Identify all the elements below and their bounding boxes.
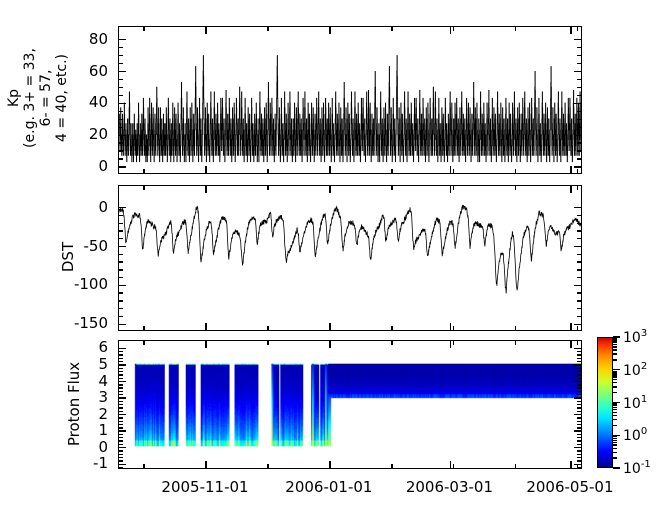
x-tick-major: [570, 186, 571, 193]
y-tick-minor: [119, 460, 123, 461]
y-tick-minor: [119, 374, 123, 375]
colorbar-tick-minor: [613, 438, 617, 439]
y-tick-major: [119, 39, 126, 40]
y-tick-major: [574, 207, 581, 208]
x-tick-minor: [577, 464, 578, 468]
x-tick-major: [205, 323, 206, 330]
kp-panel: [118, 26, 582, 174]
x-tick-minor: [577, 341, 578, 345]
y-tick-minor: [577, 421, 581, 422]
x-tick-minor: [453, 326, 454, 330]
y-tick-minor: [577, 87, 581, 88]
dst-plot-area: [119, 186, 581, 330]
y-tick-minor: [119, 308, 123, 309]
colorbar-tick-minor: [613, 379, 617, 380]
y-tick-minor: [577, 254, 581, 255]
x-tick-major: [450, 166, 451, 173]
y-tick-minor: [577, 300, 581, 301]
y-tick-label: -150: [48, 314, 108, 332]
y-tick-minor: [577, 444, 581, 445]
y-tick-minor: [577, 354, 581, 355]
y-tick-minor: [119, 434, 123, 435]
x-tick-minor: [267, 326, 268, 330]
y-tick-major: [119, 71, 126, 72]
y-tick-major: [574, 414, 581, 415]
x-tick-major: [329, 186, 330, 193]
y-tick-minor: [119, 55, 123, 56]
colorbar-tick-major: [613, 435, 620, 436]
y-tick-major: [574, 285, 581, 286]
colorbar-tick-minor: [613, 382, 617, 383]
kp-trace: [119, 27, 581, 173]
x-tick-major: [329, 461, 330, 468]
y-tick-major: [574, 71, 581, 72]
proton-flux-plot-area: [119, 341, 581, 468]
y-tick-major: [574, 430, 581, 431]
y-tick-minor: [577, 394, 581, 395]
y-tick-major: [574, 246, 581, 247]
y-tick-minor: [577, 411, 581, 412]
colorbar-tick-label: 10-1: [623, 459, 651, 477]
y-tick-minor: [119, 407, 123, 408]
colorbar-gradient: [597, 337, 613, 468]
x-tick-major: [205, 27, 206, 34]
y-tick-minor: [577, 277, 581, 278]
y-tick-minor: [119, 127, 123, 128]
x-tick-minor: [143, 464, 144, 468]
x-tick-minor: [577, 186, 578, 190]
y-tick-minor: [577, 292, 581, 293]
y-tick-label: 3: [48, 388, 108, 406]
y-tick-minor: [577, 47, 581, 48]
x-tick-label: 2006-01-01: [285, 478, 372, 496]
y-tick-minor: [577, 158, 581, 159]
y-tick-minor: [119, 384, 123, 385]
x-tick-label: 2006-03-01: [406, 478, 493, 496]
y-tick-minor: [577, 223, 581, 224]
colorbar-tick-minor: [613, 359, 617, 360]
y-tick-major: [119, 348, 126, 349]
y-tick-minor: [119, 411, 123, 412]
y-tick-minor: [577, 378, 581, 379]
y-tick-minor: [577, 387, 581, 388]
y-tick-label: 5: [48, 355, 108, 373]
y-tick-major: [119, 285, 126, 286]
x-tick-major: [329, 27, 330, 34]
y-tick-minor: [577, 79, 581, 80]
colorbar-tick-minor: [613, 440, 617, 441]
x-tick-minor: [515, 464, 516, 468]
y-tick-major: [119, 430, 126, 431]
y-tick-minor: [577, 119, 581, 120]
colorbar-tick-major: [613, 402, 620, 403]
y-tick-minor: [119, 79, 123, 80]
y-tick-major: [119, 447, 126, 448]
x-tick-minor: [515, 169, 516, 173]
y-tick-major: [574, 166, 581, 167]
x-tick-minor: [577, 169, 578, 173]
y-tick-label: 2: [48, 405, 108, 423]
x-tick-major: [570, 166, 571, 173]
colorbar-tick-minor: [613, 412, 617, 413]
colorbar-tick-label: 100: [623, 426, 647, 444]
y-tick-minor: [119, 358, 123, 359]
y-tick-minor: [119, 47, 123, 48]
y-tick-label: 6: [48, 338, 108, 356]
colorbar-tick-minor: [613, 415, 617, 416]
colorbar-tick-minor: [613, 442, 617, 443]
y-tick-minor: [577, 361, 581, 362]
y-tick-minor: [577, 111, 581, 112]
y-tick-minor: [577, 460, 581, 461]
figure-canvas: Kp(e.g. 3+ = 33,6- = 57,4 = 40, etc.) DS…: [0, 0, 665, 523]
x-tick-minor: [391, 27, 392, 31]
x-tick-major: [205, 186, 206, 193]
y-tick-minor: [119, 437, 123, 438]
y-tick-minor: [119, 387, 123, 388]
x-tick-minor: [453, 464, 454, 468]
y-tick-minor: [577, 150, 581, 151]
y-tick-minor: [577, 434, 581, 435]
y-tick-major: [119, 324, 126, 325]
colorbar-tick-minor: [613, 448, 617, 449]
colorbar-tick-minor: [613, 339, 617, 340]
y-tick-minor: [577, 374, 581, 375]
y-tick-minor: [119, 394, 123, 395]
colorbar-tick-minor: [613, 374, 617, 375]
x-tick-major: [570, 323, 571, 330]
proton-flux-panel: [118, 340, 582, 469]
y-tick-label: 60: [48, 62, 108, 80]
x-tick-major: [205, 341, 206, 348]
y-tick-minor: [119, 378, 123, 379]
y-tick-minor: [577, 215, 581, 216]
x-tick-minor: [391, 169, 392, 173]
x-tick-minor: [267, 464, 268, 468]
colorbar: [597, 337, 613, 468]
y-tick-minor: [577, 401, 581, 402]
x-tick-minor: [515, 27, 516, 31]
y-tick-minor: [119, 316, 123, 317]
colorbar-tick-minor: [613, 338, 617, 339]
y-tick-minor: [119, 368, 123, 369]
x-tick-minor: [143, 27, 144, 31]
x-tick-minor: [267, 169, 268, 173]
y-tick-minor: [119, 87, 123, 88]
y-tick-major: [119, 397, 126, 398]
x-tick-minor: [267, 27, 268, 31]
x-tick-major: [329, 166, 330, 173]
y-tick-minor: [119, 215, 123, 216]
colorbar-tick-major: [613, 336, 620, 337]
y-tick-major: [119, 207, 126, 208]
y-tick-major: [574, 324, 581, 325]
y-tick-minor: [577, 454, 581, 455]
y-tick-minor: [577, 95, 581, 96]
colorbar-tick-minor: [613, 419, 617, 420]
y-tick-label: 40: [48, 93, 108, 111]
colorbar-tick-minor: [613, 372, 617, 373]
y-tick-minor: [119, 427, 123, 428]
y-tick-minor: [577, 450, 581, 451]
y-tick-minor: [577, 261, 581, 262]
x-tick-major: [329, 323, 330, 330]
y-tick-major: [574, 135, 581, 136]
y-tick-minor: [577, 142, 581, 143]
y-tick-minor: [577, 437, 581, 438]
colorbar-tick-minor: [613, 386, 617, 387]
y-tick-minor: [577, 457, 581, 458]
y-tick-major: [119, 166, 126, 167]
x-tick-major: [450, 341, 451, 348]
x-tick-major: [450, 461, 451, 468]
x-tick-major: [570, 461, 571, 468]
kp-axis-title-line: (e.g. 3+ = 33,: [22, 4, 38, 192]
colorbar-tick-minor: [613, 344, 617, 345]
colorbar-tick-minor: [613, 457, 617, 458]
y-tick-minor: [577, 127, 581, 128]
colorbar-tick-minor: [613, 452, 617, 453]
y-tick-minor: [577, 424, 581, 425]
y-tick-minor: [577, 269, 581, 270]
colorbar-tick-minor: [613, 444, 617, 445]
y-tick-minor: [577, 368, 581, 369]
y-tick-minor: [577, 440, 581, 441]
y-tick-minor: [577, 230, 581, 231]
y-tick-label: 80: [48, 30, 108, 48]
x-tick-major: [205, 461, 206, 468]
y-tick-minor: [119, 417, 123, 418]
y-tick-major: [119, 135, 126, 136]
y-tick-minor: [119, 361, 123, 362]
y-tick-minor: [577, 391, 581, 392]
y-tick-minor: [119, 444, 123, 445]
y-tick-label: -100: [48, 275, 108, 293]
x-tick-major: [570, 27, 571, 34]
y-tick-major: [119, 364, 126, 365]
colorbar-tick-minor: [613, 407, 617, 408]
y-tick-major: [574, 348, 581, 349]
colorbar-tick-minor: [613, 376, 617, 377]
y-tick-minor: [119, 158, 123, 159]
x-tick-minor: [391, 186, 392, 190]
x-tick-minor: [515, 186, 516, 190]
y-tick-minor: [577, 238, 581, 239]
y-tick-major: [119, 381, 126, 382]
y-tick-minor: [577, 427, 581, 428]
y-tick-major: [119, 246, 126, 247]
y-tick-major: [574, 39, 581, 40]
y-tick-minor: [119, 421, 123, 422]
colorbar-tick-label: 101: [623, 394, 647, 412]
x-tick-minor: [143, 169, 144, 173]
colorbar-tick-minor: [613, 353, 617, 354]
y-tick-minor: [119, 454, 123, 455]
y-tick-minor: [119, 142, 123, 143]
y-tick-label: 0: [48, 157, 108, 175]
x-tick-minor: [143, 186, 144, 190]
x-tick-label: 2005-11-01: [161, 478, 248, 496]
kp-axis-title-line: Kp: [6, 4, 22, 192]
y-tick-minor: [119, 457, 123, 458]
colorbar-tick-minor: [613, 346, 617, 347]
y-tick-minor: [119, 371, 123, 372]
y-tick-minor: [119, 300, 123, 301]
y-tick-major: [119, 103, 126, 104]
colorbar-tick-minor: [613, 409, 617, 410]
x-tick-minor: [577, 27, 578, 31]
y-tick-minor: [577, 384, 581, 385]
dst-trace: [119, 186, 581, 330]
y-tick-minor: [119, 277, 123, 278]
colorbar-tick-minor: [613, 403, 617, 404]
y-tick-label: -1: [48, 454, 108, 472]
y-tick-label: 0: [48, 438, 108, 456]
x-tick-minor: [391, 341, 392, 345]
x-tick-minor: [577, 326, 578, 330]
x-tick-major: [205, 166, 206, 173]
y-tick-label: 1: [48, 421, 108, 439]
x-tick-major: [450, 323, 451, 330]
y-tick-major: [574, 381, 581, 382]
y-tick-label: 0: [48, 198, 108, 216]
x-tick-major: [450, 186, 451, 193]
y-tick-major: [574, 103, 581, 104]
y-tick-label: 4: [48, 372, 108, 390]
y-tick-minor: [119, 354, 123, 355]
y-tick-minor: [119, 223, 123, 224]
x-tick-label: 2006-05-01: [526, 478, 613, 496]
y-tick-minor: [577, 351, 581, 352]
colorbar-tick-minor: [613, 341, 617, 342]
y-tick-minor: [577, 417, 581, 418]
x-tick-minor: [515, 341, 516, 345]
y-tick-minor: [119, 230, 123, 231]
y-tick-minor: [119, 111, 123, 112]
kp-plot-area: [119, 27, 581, 173]
y-tick-minor: [577, 407, 581, 408]
y-tick-major: [119, 464, 126, 465]
x-tick-minor: [391, 326, 392, 330]
y-tick-minor: [119, 254, 123, 255]
y-tick-major: [574, 397, 581, 398]
x-tick-minor: [267, 341, 268, 345]
y-tick-label: 20: [48, 125, 108, 143]
y-tick-minor: [577, 308, 581, 309]
x-tick-major: [570, 341, 571, 348]
y-tick-minor: [119, 63, 123, 64]
x-tick-minor: [143, 326, 144, 330]
colorbar-tick-minor: [613, 405, 617, 406]
colorbar-tick-major: [613, 369, 620, 370]
y-tick-minor: [119, 292, 123, 293]
x-tick-minor: [267, 186, 268, 190]
y-tick-minor: [577, 55, 581, 56]
y-tick-label: -50: [48, 237, 108, 255]
y-tick-minor: [577, 371, 581, 372]
x-tick-minor: [453, 169, 454, 173]
y-tick-minor: [119, 401, 123, 402]
y-tick-minor: [577, 404, 581, 405]
y-tick-minor: [119, 269, 123, 270]
x-tick-major: [329, 341, 330, 348]
y-tick-minor: [119, 467, 123, 468]
colorbar-tick-minor: [613, 436, 617, 437]
y-tick-major: [574, 364, 581, 365]
colorbar-tick-major: [613, 467, 620, 468]
y-tick-minor: [119, 424, 123, 425]
y-tick-major: [119, 414, 126, 415]
y-tick-minor: [119, 391, 123, 392]
dst-panel: [118, 185, 582, 331]
y-tick-minor: [119, 351, 123, 352]
dst-line: [119, 205, 581, 293]
x-tick-minor: [453, 341, 454, 345]
x-tick-minor: [453, 186, 454, 190]
x-tick-minor: [453, 27, 454, 31]
y-tick-minor: [119, 261, 123, 262]
x-tick-minor: [515, 326, 516, 330]
colorbar-tick-minor: [613, 425, 617, 426]
y-tick-minor: [119, 450, 123, 451]
x-tick-major: [450, 27, 451, 34]
colorbar-tick-minor: [613, 349, 617, 350]
kp-line: [119, 56, 581, 162]
x-tick-minor: [391, 464, 392, 468]
y-tick-minor: [577, 63, 581, 64]
y-tick-minor: [119, 440, 123, 441]
y-tick-minor: [119, 119, 123, 120]
y-tick-major: [574, 447, 581, 448]
y-tick-minor: [577, 358, 581, 359]
y-tick-minor: [119, 150, 123, 151]
colorbar-tick-minor: [613, 371, 617, 372]
y-tick-minor: [119, 238, 123, 239]
proton-flux-spectrogram: [119, 341, 581, 468]
y-tick-minor: [119, 95, 123, 96]
x-tick-minor: [143, 341, 144, 345]
colorbar-tick-label: 102: [623, 361, 647, 379]
colorbar-tick-label: 103: [623, 328, 647, 346]
colorbar-tick-minor: [613, 392, 617, 393]
y-tick-minor: [577, 316, 581, 317]
y-tick-minor: [119, 404, 123, 405]
